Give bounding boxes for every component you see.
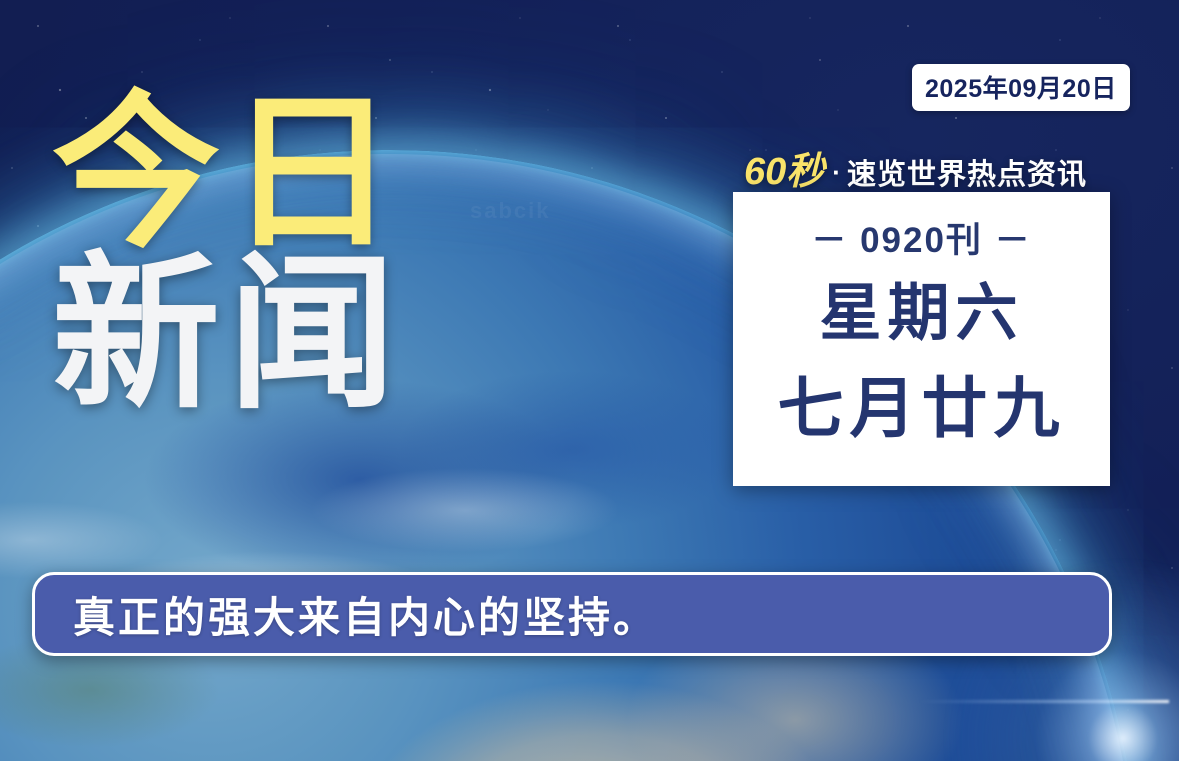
lunar-date-label: 七月廿九 (778, 375, 1066, 441)
watermark-text: sabcik (470, 198, 551, 224)
subtitle-separator-dot: · (824, 157, 847, 188)
issue-card: － 0920刊 － 星期六 七月廿九 (733, 192, 1110, 486)
quote-text: 真正的强大来自内心的坚持。 (73, 584, 658, 645)
title-line-xinwen: 新闻 (52, 257, 404, 412)
date-badge: 2025年09月20日 (912, 64, 1130, 111)
news-poster: sabcik 今日 新闻 2025年09月20日 60秒 · 速览世界热点资讯 … (0, 0, 1179, 761)
subtitle-text: 速览世界热点资讯 (847, 151, 1087, 193)
subtitle: 60秒 · 速览世界热点资讯 (744, 140, 1087, 195)
quote-banner: 真正的强大来自内心的坚持。 (32, 572, 1112, 656)
issue-number: － 0920刊 － (811, 212, 1031, 263)
page-title: 今日 新闻 (52, 96, 404, 411)
title-line-jinri: 今日 (52, 96, 404, 251)
subtitle-highlight: 60秒 (744, 140, 824, 195)
lens-flare-streak (919, 700, 1169, 703)
weekday-label: 星期六 (819, 283, 1023, 345)
